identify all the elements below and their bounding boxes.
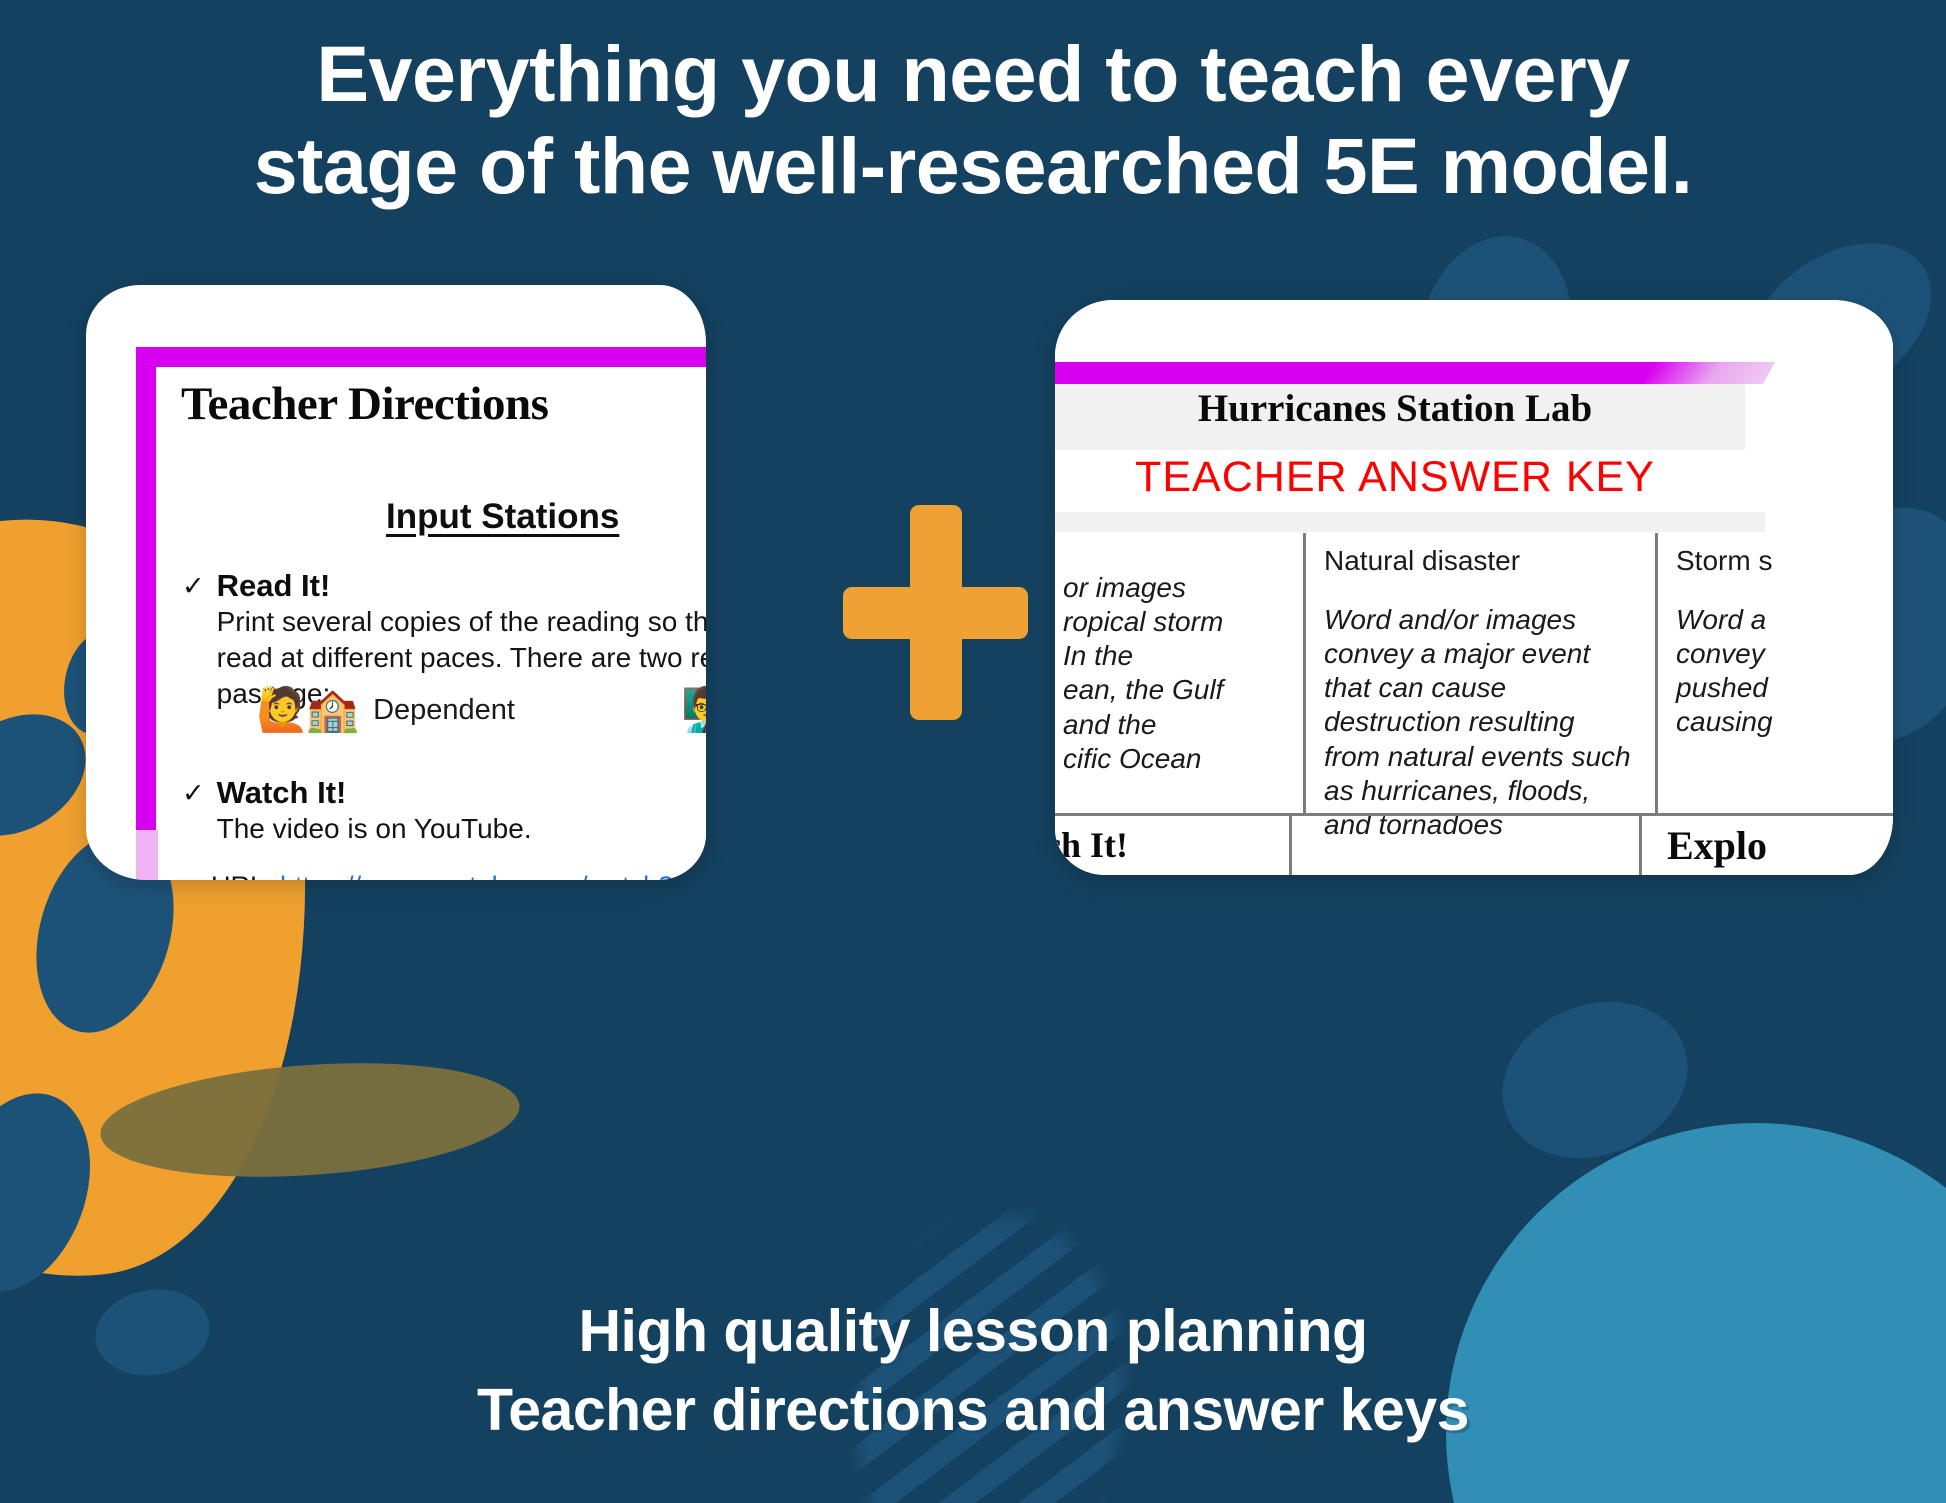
page-title: Teacher Directions — [181, 377, 706, 431]
magenta-border-fade — [1643, 362, 1775, 384]
table-cell: or images ropical storm In the ean, the … — [1063, 571, 1285, 776]
footer-text: High quality lesson planning Teacher dir… — [0, 1292, 1946, 1451]
watch-it-heading: Watch It! — [217, 775, 347, 810]
footer-line-2: Teacher directions and answer keys — [40, 1371, 1906, 1451]
url-label: URL: — [211, 871, 280, 880]
list-item: ✓ Watch It! The video is on YouTube. — [182, 775, 706, 847]
answer-table: or images ropical storm In the ean, the … — [1055, 533, 1893, 813]
icon-label-dependent: Dependent — [373, 694, 515, 727]
answer-key-card[interactable]: Hurricanes Station Lab TEACHER ANSWER KE… — [1055, 300, 1893, 875]
column-header: Natural disaster — [1324, 545, 1637, 577]
section-subtitle: Input Stations — [386, 497, 619, 537]
magenta-border-left — [136, 347, 156, 880]
headline: Everything you need to teach every stage… — [0, 28, 1946, 213]
footer-explore-label: Explo — [1667, 822, 1767, 869]
youtube-url-link[interactable]: https://www.youtube.com/watch? — [280, 871, 673, 880]
magenta-border-top — [1055, 362, 1695, 384]
answer-key-label: TEACHER ANSWER KEY — [1055, 453, 1745, 502]
teacher-directions-card[interactable]: Teacher Directions Input Stations ✓ Read… — [86, 285, 706, 880]
table-cell: Word a convey pushed causing — [1676, 603, 1893, 740]
poster-canvas: Everything you need to teach every stage… — [0, 0, 1946, 1503]
headline-line-2: stage of the well-researched 5E model. — [40, 120, 1906, 212]
lab-title: Hurricanes Station Lab — [1055, 386, 1745, 431]
footer-line-1: High quality lesson planning — [40, 1292, 1906, 1372]
check-icon: ✓ — [182, 568, 205, 600]
column-header: Storm s — [1676, 545, 1893, 577]
watch-it-body: The video is on YouTube. — [217, 813, 532, 844]
students-at-desk-raising-hand-icon: 🙋🏫 — [256, 689, 355, 732]
table-column: Storm s Word a convey pushed causing — [1655, 533, 1893, 813]
table-column: or images ropical storm In the ean, the … — [1055, 533, 1303, 813]
teacher-with-student-icon: 👨‍🏫 — [681, 689, 706, 732]
magenta-border-fade — [136, 830, 158, 880]
divider-band — [1055, 512, 1765, 532]
read-it-heading: Read It! — [217, 568, 331, 603]
table-cell: Word and/or images convey a major event … — [1324, 603, 1637, 842]
check-icon: ✓ — [182, 775, 205, 807]
table-vertical-rule — [1289, 813, 1292, 875]
table-column: Natural disaster Word and/or images conv… — [1303, 533, 1655, 813]
footer-watch-it-label: tch It! — [1055, 824, 1128, 866]
table-vertical-rule — [1639, 813, 1642, 875]
plus-horizontal-bar — [843, 587, 1028, 639]
magenta-border-top — [136, 347, 706, 367]
station-icon-row: 🙋🏫 Dependent 👨‍🏫 Mo — [256, 689, 706, 732]
plus-icon — [843, 505, 1028, 720]
headline-line-1: Everything you need to teach every — [40, 28, 1906, 120]
table-footer-row — [1055, 813, 1893, 875]
video-url-line: URL: https://www.youtube.com/watch? — [211, 871, 673, 880]
